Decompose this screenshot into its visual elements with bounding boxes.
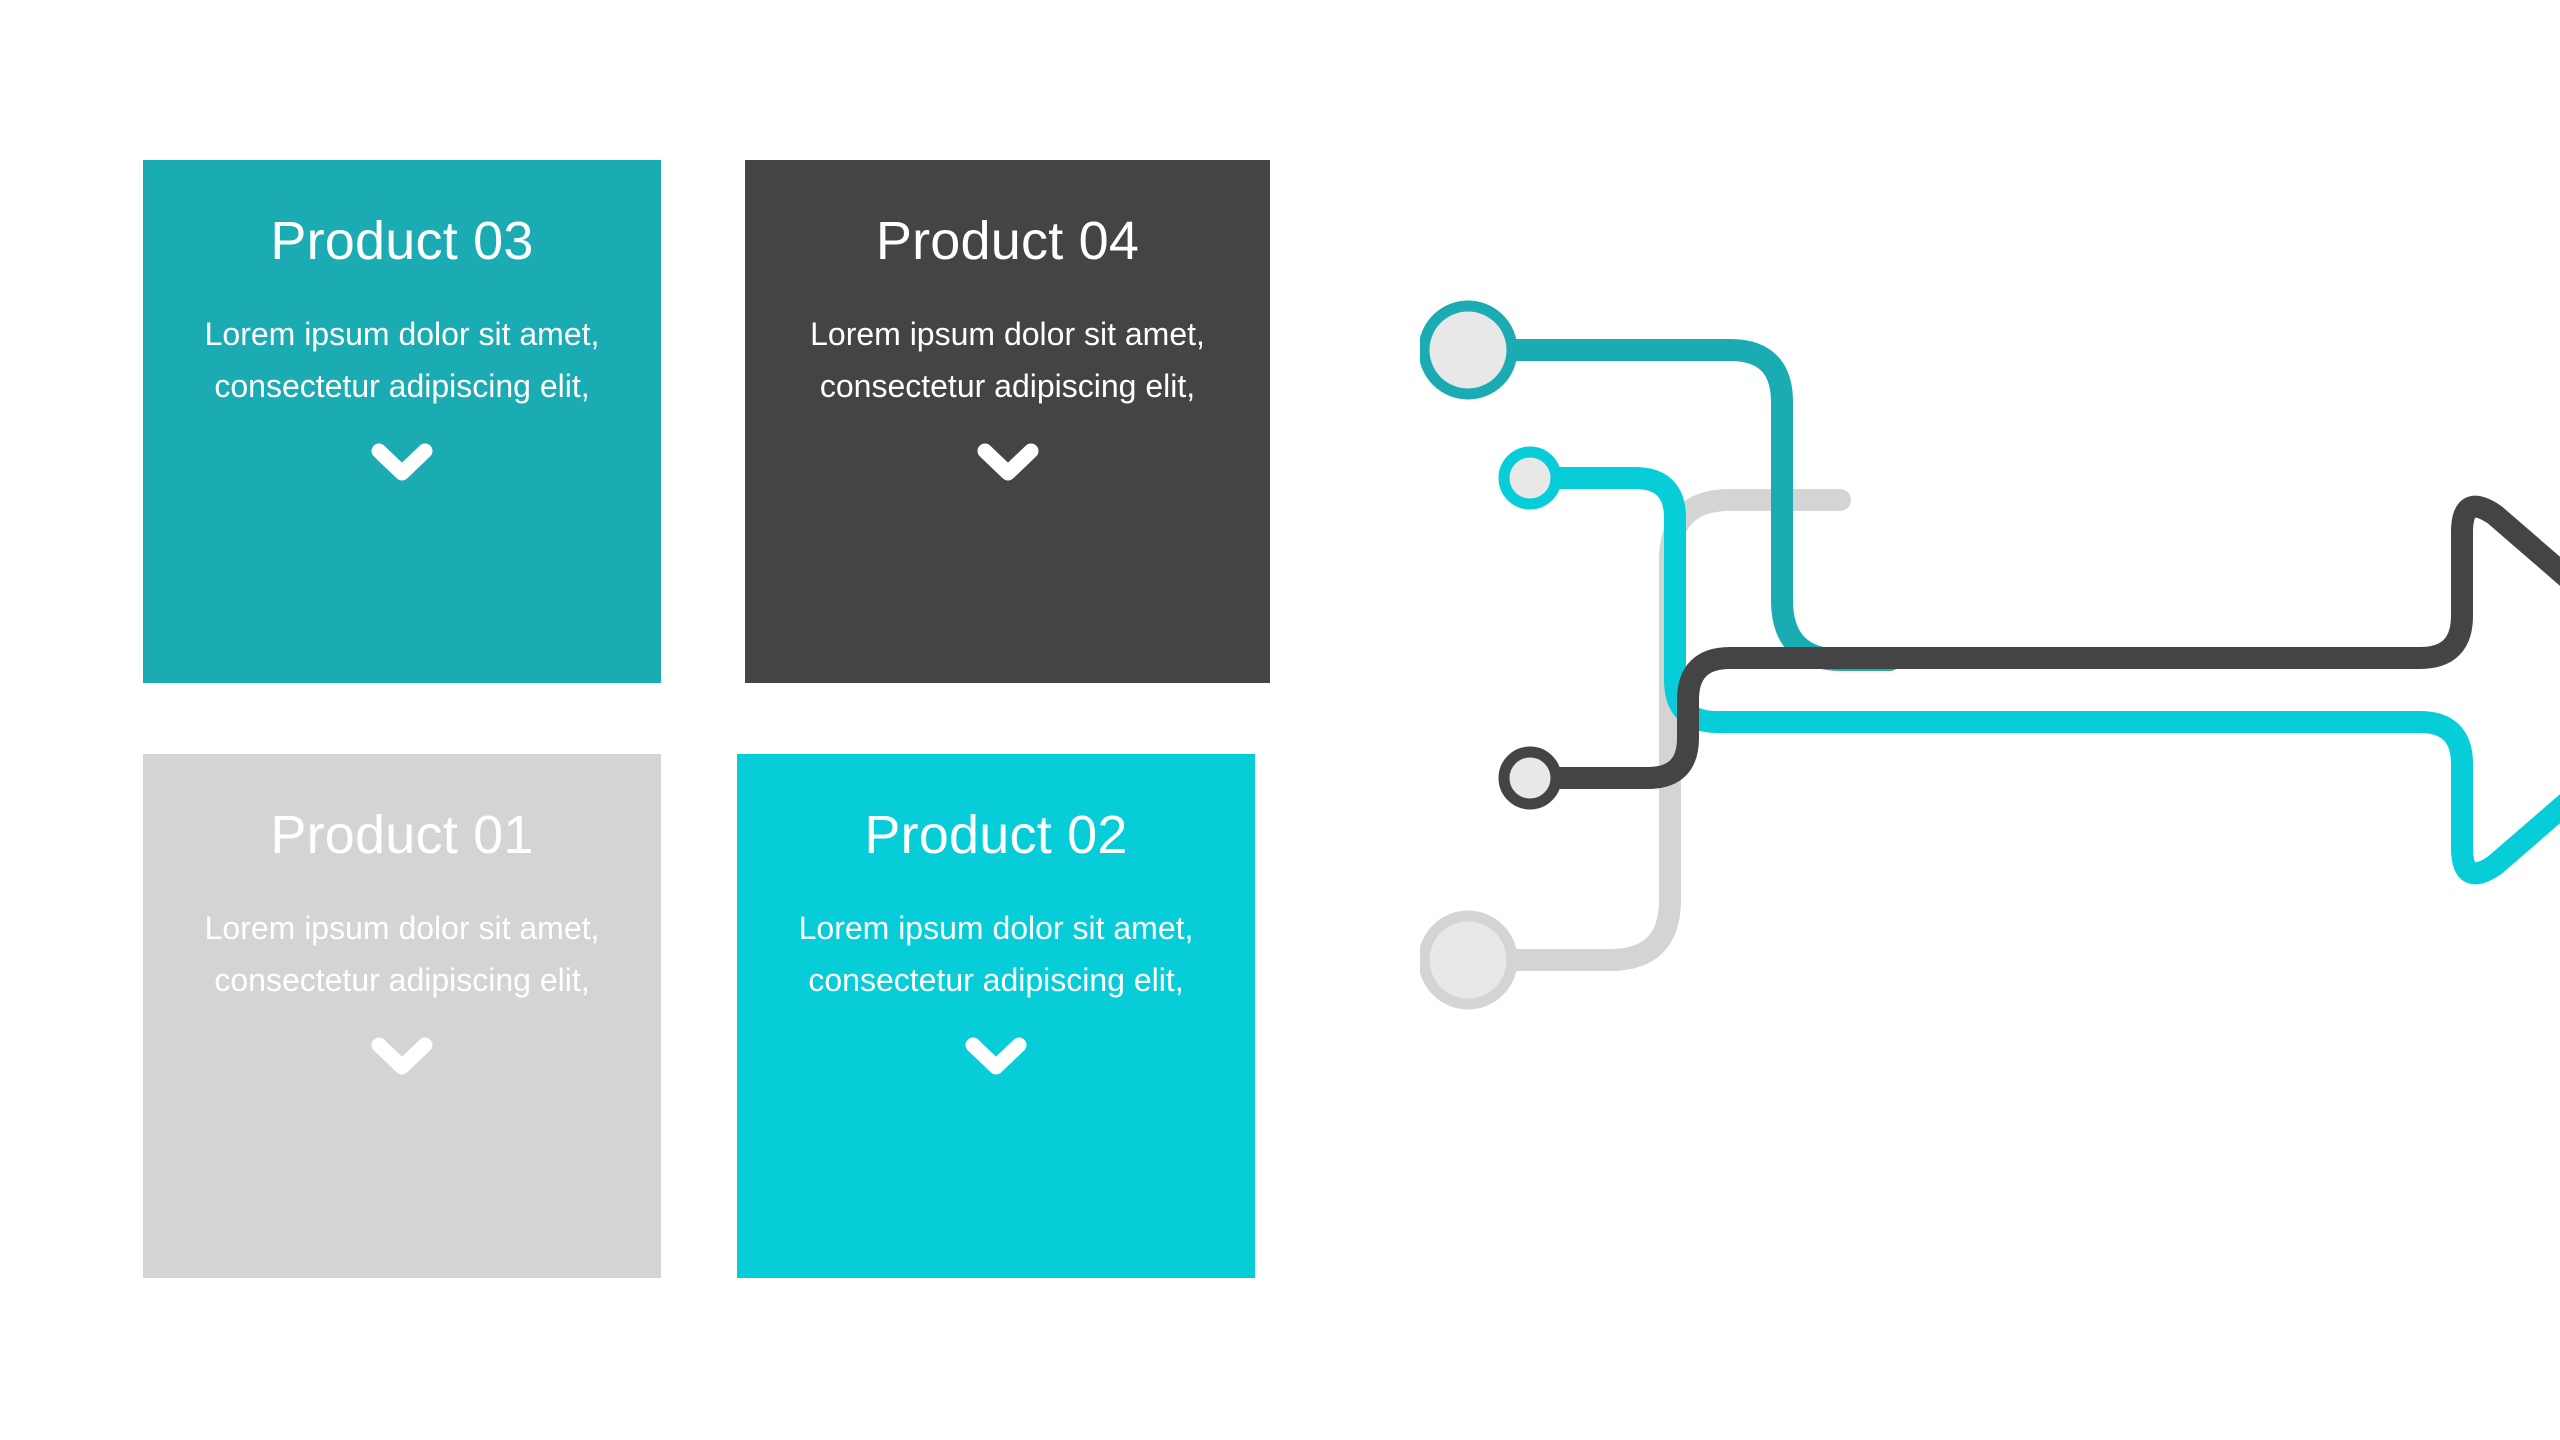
connector-path-cyan <box>1560 478 2560 873</box>
chevron-down-icon <box>371 1037 433 1077</box>
card-title: Product 03 <box>270 212 533 271</box>
product-card-product-02[interactable]: Product 02 Lorem ipsum dolor sit amet, c… <box>737 754 1255 1278</box>
chevron-down-button[interactable] <box>745 443 1270 483</box>
node-circle-teal[interactable] <box>1424 306 1512 394</box>
card-title: Product 01 <box>270 806 533 865</box>
card-body-text: Lorem ipsum dolor sit amet, consectetur … <box>190 903 615 1007</box>
card-title: Product 02 <box>864 806 1127 865</box>
merging-arrow-diagram <box>1420 300 2560 1160</box>
node-circle-cyan[interactable] <box>1504 452 1556 504</box>
card-body-text: Lorem ipsum dolor sit amet, consectetur … <box>190 309 615 413</box>
product-card-product-01[interactable]: Product 01 Lorem ipsum dolor sit amet, c… <box>143 754 661 1278</box>
product-card-product-04[interactable]: Product 04 Lorem ipsum dolor sit amet, c… <box>745 160 1270 683</box>
card-body-text: Lorem ipsum dolor sit amet, consectetur … <box>792 309 1223 413</box>
chevron-down-button[interactable] <box>143 1037 661 1077</box>
infographic-canvas: Product 03 Lorem ipsum dolor sit amet, c… <box>0 0 2560 1440</box>
node-circle-gray[interactable] <box>1424 916 1512 1004</box>
node-circle-dark[interactable] <box>1504 752 1556 804</box>
connector-path-dark <box>1560 507 2560 778</box>
chevron-down-icon <box>965 1037 1027 1077</box>
chevron-down-button[interactable] <box>143 443 661 483</box>
card-title: Product 04 <box>876 212 1139 271</box>
chevron-down-button[interactable] <box>737 1037 1255 1077</box>
chevron-down-icon <box>977 443 1039 483</box>
chevron-down-icon <box>371 443 433 483</box>
product-card-product-03[interactable]: Product 03 Lorem ipsum dolor sit amet, c… <box>143 160 661 683</box>
card-body-text: Lorem ipsum dolor sit amet, consectetur … <box>784 903 1209 1007</box>
